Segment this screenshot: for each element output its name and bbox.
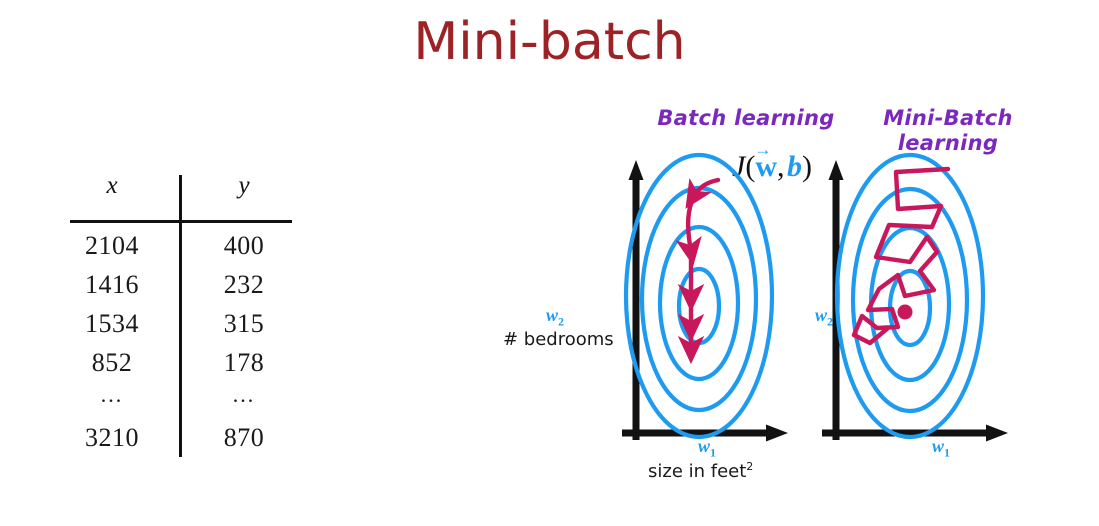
column-header-y: y — [190, 166, 298, 210]
contour-plots-area: Batch learning Mini-Batch learning J(→w,… — [500, 96, 1080, 496]
table-cell: 3210 — [62, 418, 162, 457]
slide-canvas: Mini-batch x 2104 1416 1534 852 ... 3210 — [0, 0, 1099, 526]
table-column-x: x 2104 1416 1534 852 ... 3210 — [62, 166, 180, 457]
left-plot-contours — [626, 155, 772, 437]
table-cell: 870 — [190, 418, 298, 457]
column-header-x: x — [62, 166, 162, 210]
data-table: x 2104 1416 1534 852 ... 3210 y 400 — [62, 166, 298, 456]
table-cell: 178 — [190, 343, 298, 382]
table-cell: 232 — [190, 265, 298, 304]
left-plot-gradient-descent-path — [688, 180, 718, 350]
table-cell-ellipsis: ... — [190, 382, 298, 418]
contour-ring — [626, 155, 772, 437]
table-cell: 315 — [190, 304, 298, 343]
table-cell: 2104 — [62, 226, 162, 265]
right-plot-axes — [822, 160, 1008, 442]
contour-ring — [679, 269, 719, 343]
table-cell: 1534 — [62, 304, 162, 343]
table-cell: 400 — [190, 226, 298, 265]
page-title: Mini-batch — [0, 14, 1099, 71]
table-column-y: y 400 232 315 178 ... 870 — [180, 166, 298, 457]
left-plot-axes — [622, 160, 788, 442]
contour-plot-svg — [500, 96, 1080, 496]
path-endpoint-dot — [898, 305, 913, 320]
table-cell: 852 — [62, 343, 162, 382]
table-cell-ellipsis: ... — [62, 382, 162, 418]
table-cell: 1416 — [62, 265, 162, 304]
contour-ring — [660, 227, 738, 379]
right-plot-minibatch-path — [854, 169, 948, 343]
